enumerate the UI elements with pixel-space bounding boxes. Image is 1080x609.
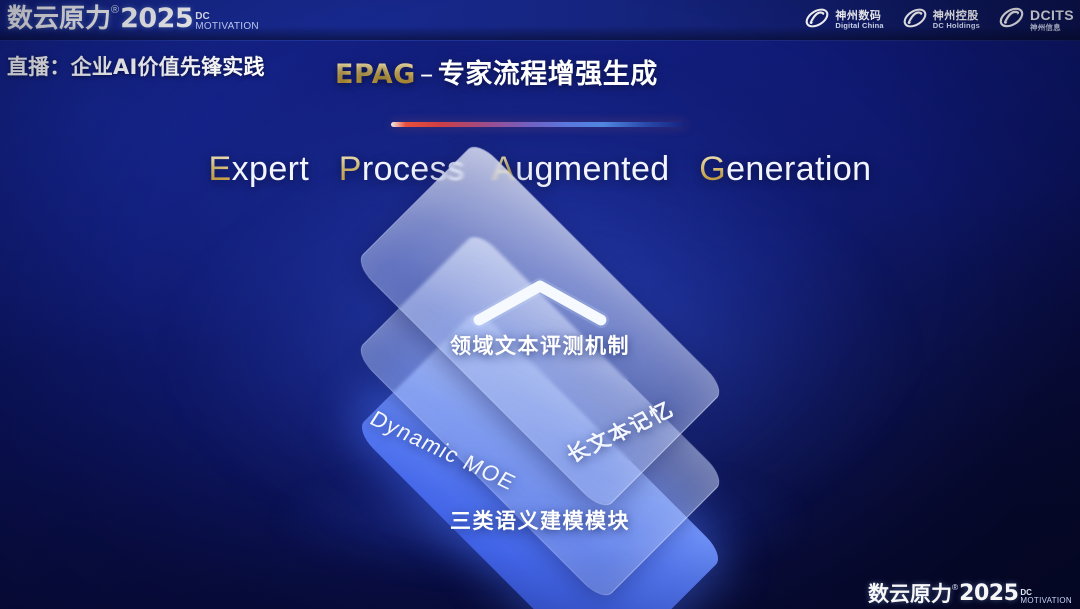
title-divider bbox=[391, 122, 686, 127]
partner-name-en: Digital China bbox=[835, 22, 883, 30]
layered-architecture-diagram: 领域文本评测机制 Dynamic MOE 长文本记忆 三类语义建模模块 bbox=[0, 0, 1080, 609]
slide-title-dash: – bbox=[416, 59, 438, 90]
partner-name-en: DC Holdings bbox=[933, 22, 980, 30]
brand-logo-motivation-text: MOTIVATION bbox=[195, 22, 259, 32]
watermark-dc-motivation: DC MOTIVATION bbox=[1020, 589, 1072, 605]
subtitle-rest-rocess: rocess bbox=[362, 150, 465, 188]
partner-logo-digital-china: 神州数码 Digital China bbox=[804, 5, 883, 36]
live-stream-tag: 直播：企业AI价值先锋实践 bbox=[7, 51, 265, 81]
watermark-motivation-text: MOTIVATION bbox=[1020, 597, 1072, 605]
brand-logo-topleft: 数云原力 ® 2025 DC MOTIVATION bbox=[7, 5, 259, 32]
watermark-year: 2025 bbox=[959, 583, 1018, 605]
swoosh-icon bbox=[902, 5, 928, 36]
partner-logo-text: DCITS 神州信息 bbox=[1030, 8, 1074, 31]
watermark-registered-mark: ® bbox=[952, 583, 958, 591]
partner-name-en: DCITS bbox=[1030, 8, 1074, 23]
subtitle-word-expert: Expert bbox=[209, 150, 310, 188]
subtitle-word-generation: Generation bbox=[699, 150, 871, 188]
subtitle-rest-xpert: xpert bbox=[232, 150, 310, 188]
watermark-cn-name: 数云原力 bbox=[868, 584, 952, 605]
plate-sheen bbox=[355, 308, 725, 609]
diagram-label-top: 领域文本评测机制 bbox=[0, 330, 1080, 360]
slide-subtitle: Expert Process Augmented Generation bbox=[0, 150, 1080, 189]
subtitle-word-process: Process bbox=[339, 150, 465, 188]
subtitle-capital-g: G bbox=[699, 150, 726, 188]
brand-logo-cn-name: 数云原力 bbox=[7, 6, 111, 32]
partner-logo-dcits: DCITS 神州信息 bbox=[998, 4, 1074, 36]
diagram-label-middle-left: Dynamic MOE bbox=[365, 406, 521, 496]
brand-logo-dc-motivation: DC MOTIVATION bbox=[195, 12, 259, 32]
diagram-label-bottom: 三类语义建模模块 bbox=[0, 505, 1080, 535]
slide-title-chinese: 专家流程增强生成 bbox=[438, 59, 658, 90]
subtitle-space bbox=[679, 150, 689, 188]
subtitle-capital-e: E bbox=[209, 150, 232, 188]
subtitle-capital-p: P bbox=[339, 150, 362, 188]
background-center-glow bbox=[160, 143, 920, 563]
swoosh-icon bbox=[998, 4, 1025, 36]
background-vignette bbox=[0, 0, 1080, 609]
slide-title: EPAG–专家流程增强生成 bbox=[335, 52, 658, 91]
subtitle-space bbox=[474, 150, 484, 188]
plate-sheen bbox=[355, 141, 725, 511]
subtitle-capital-a: A bbox=[492, 150, 515, 188]
slide-title-acronym: EPAG bbox=[335, 59, 416, 90]
subtitle-rest-ugmented: ugmented bbox=[515, 150, 669, 188]
brand-logo-registered-mark: ® bbox=[111, 5, 119, 16]
diagram-under-glow bbox=[280, 460, 800, 580]
diagram-layer-top bbox=[354, 140, 726, 512]
partner-name-cn: 神州信息 bbox=[1030, 24, 1074, 32]
brand-logo-year: 2025 bbox=[120, 5, 193, 32]
plate-sheen bbox=[355, 231, 725, 601]
partner-logo-group: 神州数码 Digital China 神州控股 DC Holdings bbox=[804, 4, 1074, 36]
swoosh-icon bbox=[804, 5, 830, 36]
brand-logo-watermark: 数云原力 ® 2025 DC MOTIVATION bbox=[868, 583, 1072, 605]
presentation-slide: 数云原力 ® 2025 DC MOTIVATION 神州数码 bbox=[0, 0, 1080, 609]
subtitle-rest-eneration: eneration bbox=[726, 150, 871, 188]
partner-logo-text: 神州数码 Digital China bbox=[835, 10, 883, 30]
subtitle-space bbox=[319, 150, 329, 188]
diagram-layer-middle bbox=[354, 230, 726, 602]
chevron-up-icon bbox=[467, 274, 613, 335]
diagram-label-middle-right: 长文本记忆 bbox=[560, 394, 680, 469]
subtitle-word-augmented: Augmented bbox=[492, 150, 670, 188]
partner-logo-text: 神州控股 DC Holdings bbox=[933, 10, 980, 30]
diagram-layer-bottom bbox=[355, 308, 725, 609]
partner-logo-dc-holdings: 神州控股 DC Holdings bbox=[902, 5, 980, 36]
top-banner: 数云原力 ® 2025 DC MOTIVATION 神州数码 bbox=[0, 0, 1080, 41]
